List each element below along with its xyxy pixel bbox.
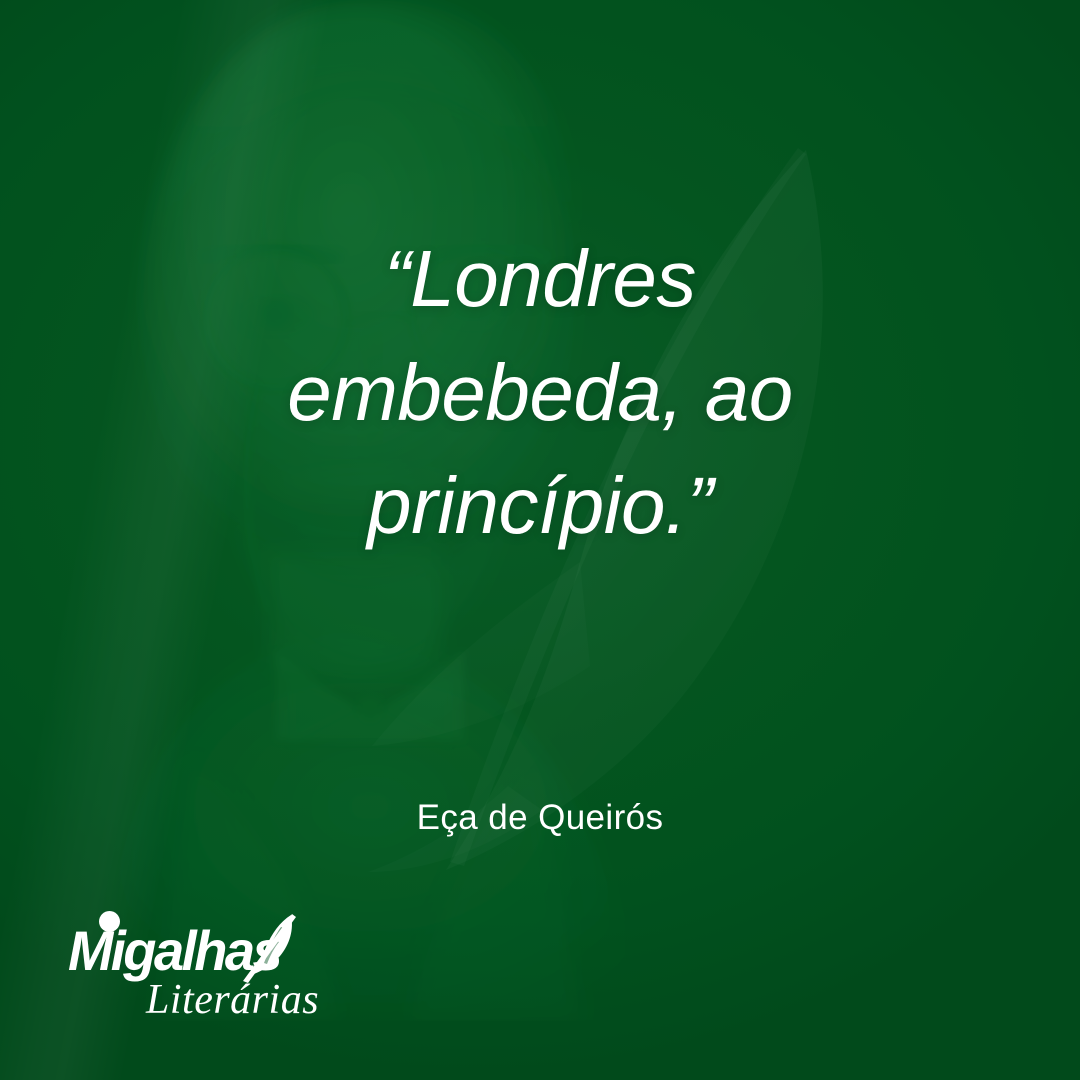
quill-feather-icon [236, 913, 298, 985]
brand-wordmark-row: Migalhas [68, 927, 318, 983]
brand-logo[interactable]: Migalhas Literárias [68, 927, 318, 1022]
brand-subtitle: Literárias [146, 979, 319, 1021]
quote-card: “Londres embebeda, ao princípio.” Eça de… [0, 0, 1080, 1080]
quote-author: Eça de Queirós [0, 798, 1080, 838]
quote-text: “Londres embebeda, ao princípio.” [0, 222, 1080, 563]
i-dot-icon [99, 911, 120, 932]
